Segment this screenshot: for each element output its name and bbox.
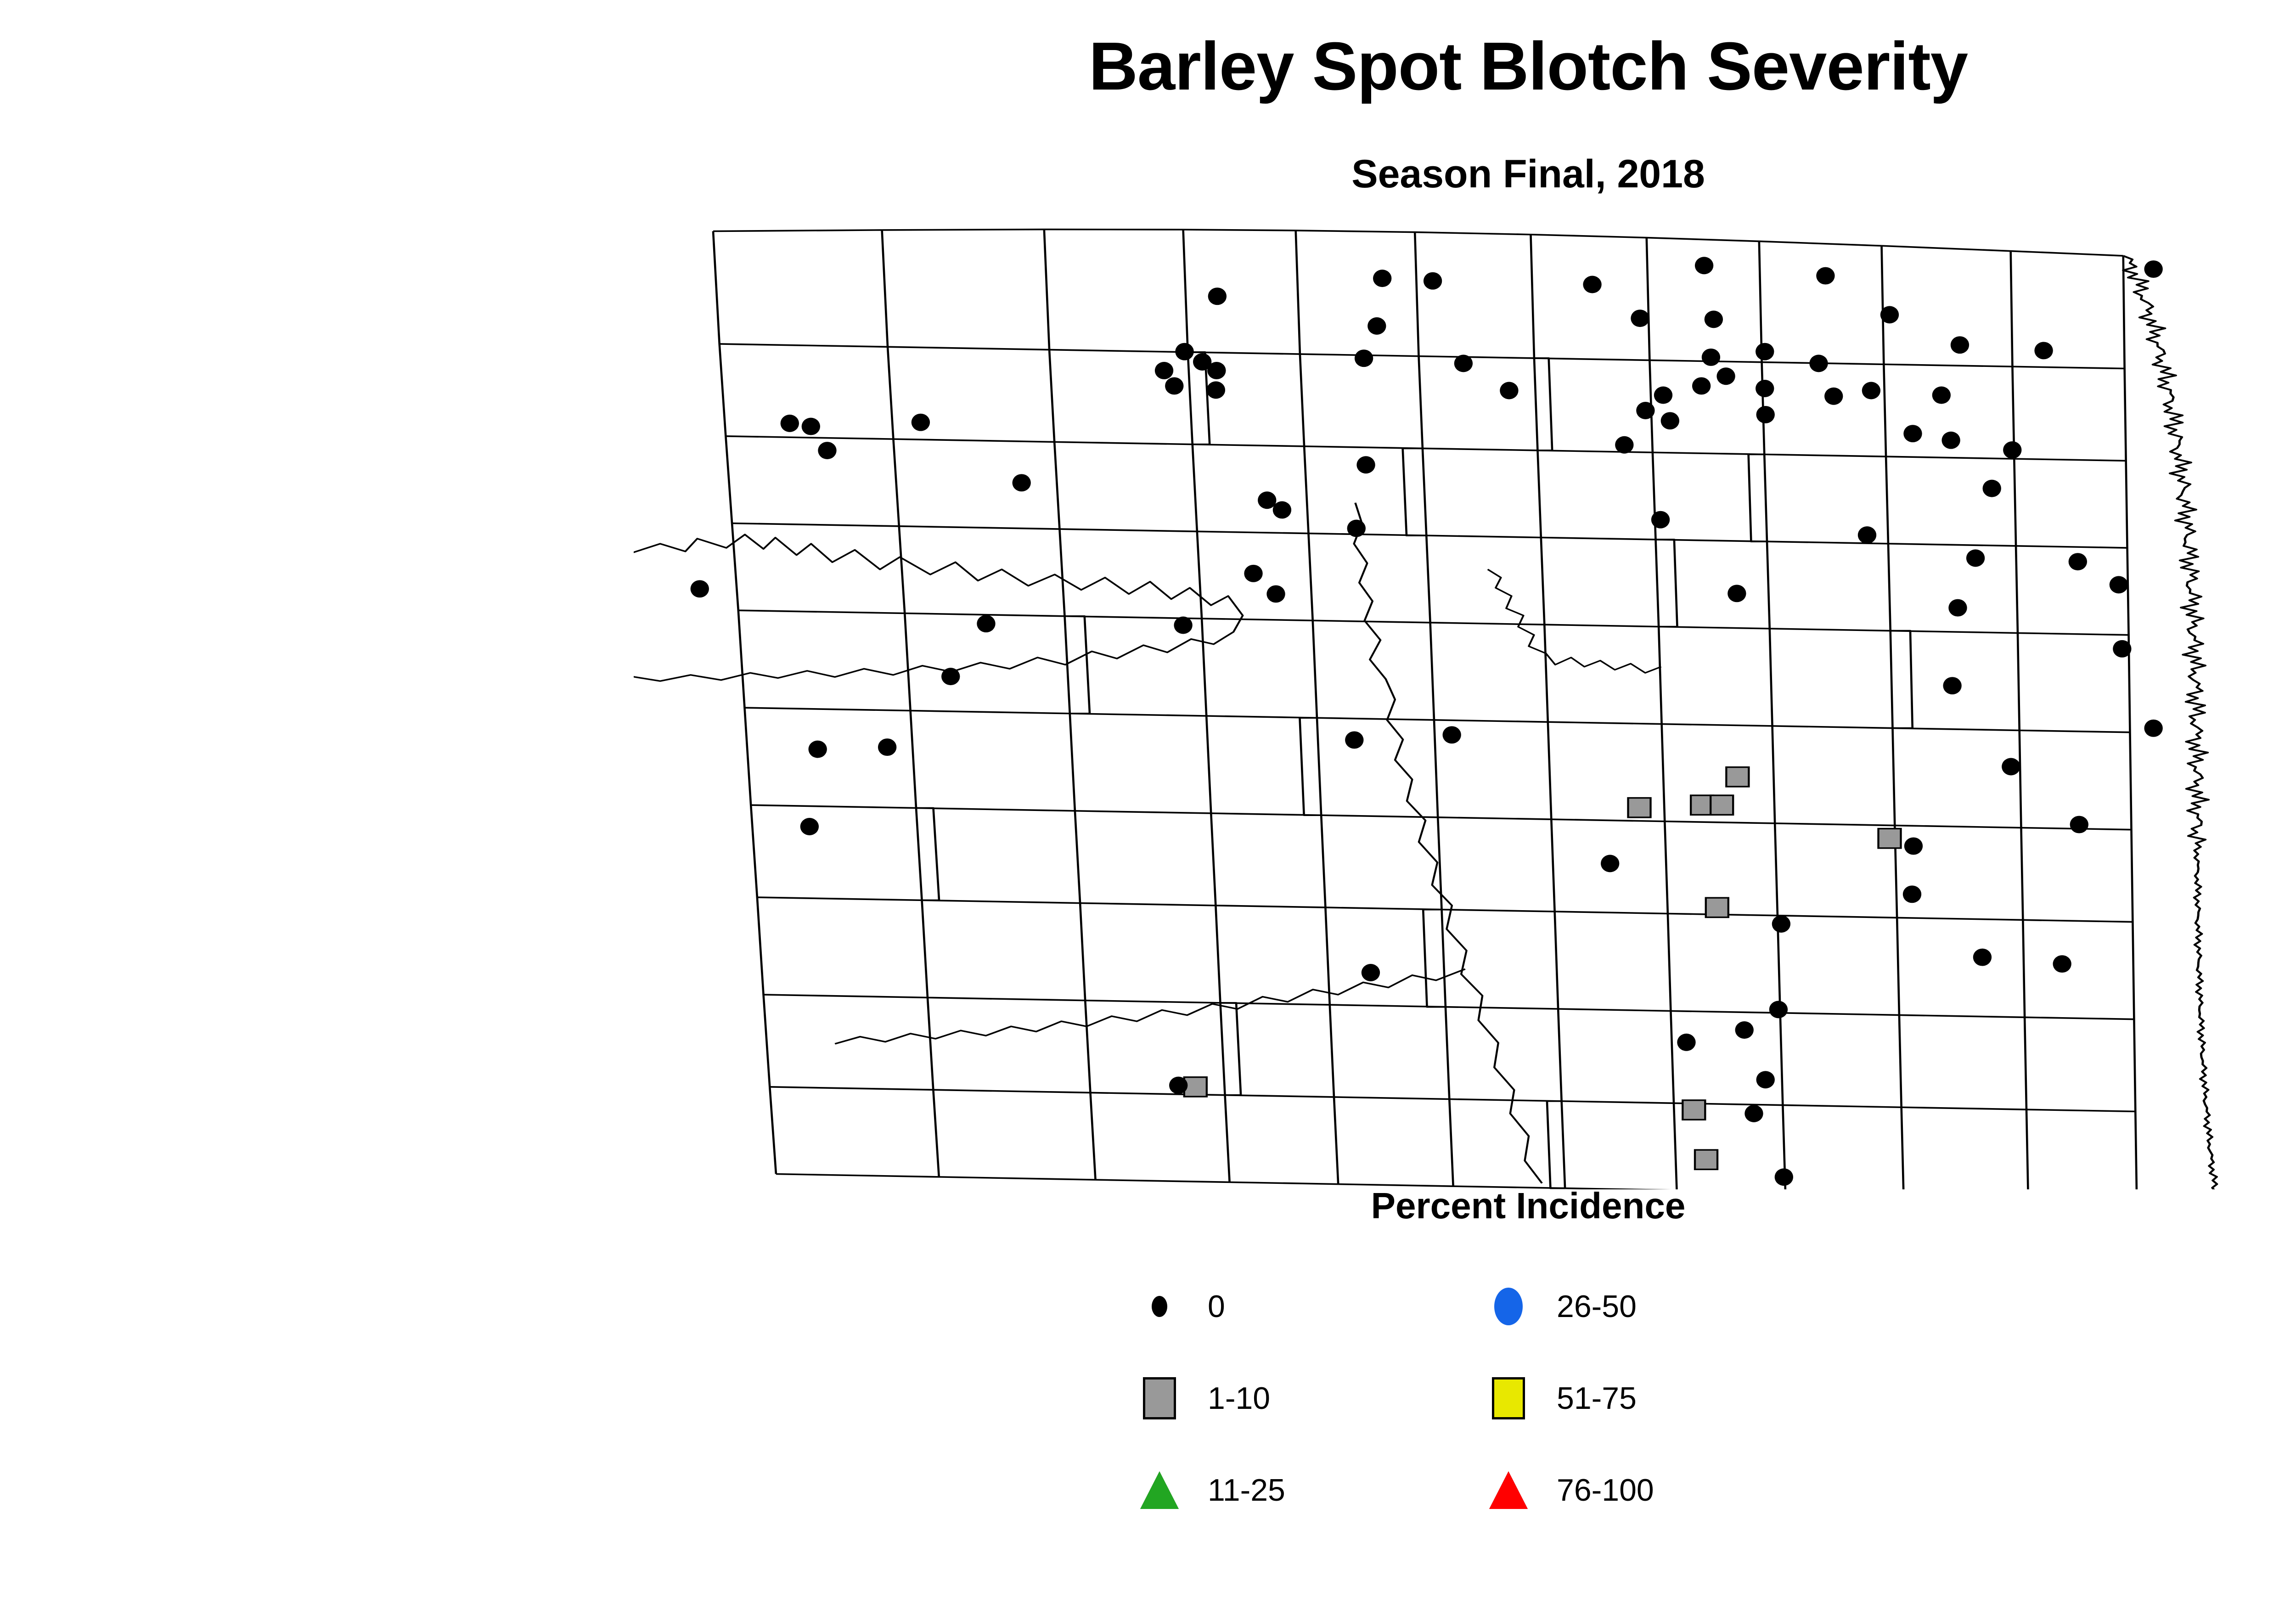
legend-item-label: 51-75 [1557,1380,1637,1416]
survey-point-0 [941,668,960,685]
survey-point-0 [1012,474,1030,491]
survey-point-0 [1677,1034,1695,1051]
survey-point-0 [1756,406,1775,423]
legend-item-1-10[interactable]: 1-10 [1139,1378,1270,1419]
survey-point-0 [781,415,799,432]
survey-point-1-10 [1628,798,1650,817]
survey-point-0 [1858,526,1876,544]
survey-point-0 [1601,855,1619,872]
survey-point-0 [808,741,827,758]
survey-point-0 [1966,549,1985,567]
survey-point-0 [1769,1001,1788,1018]
survey-point-0 [2002,758,2020,776]
page-subtitle: Season Final, 2018 [0,152,2296,197]
survey-point-0 [1903,425,1922,442]
survey-point-0 [1904,837,1923,855]
legend-item-label: 11-25 [1208,1472,1285,1508]
survey-point-0 [1615,436,1633,454]
legend-item-label: 1-10 [1208,1380,1270,1416]
survey-point-0 [1716,367,1735,385]
survey-point-0 [1583,276,1601,293]
legend-square-icon [1139,1378,1180,1419]
survey-point-1-10 [1683,1100,1705,1120]
survey-point-1-10 [1184,1077,1207,1097]
legend-title: Percent Incidence [0,1185,2296,1227]
survey-point-0 [1756,343,1774,360]
survey-point-0 [2110,576,2128,593]
survey-point-0 [1948,599,1967,617]
survey-point-1-10 [1726,767,1749,787]
legend-item-76-100[interactable]: 76-100 [1488,1469,1654,1511]
survey-point-0 [818,442,836,459]
county-boundaries [713,230,2137,1189]
survey-point-0 [1692,377,1711,394]
survey-point-0 [691,580,709,597]
survey-point-0 [1695,257,1713,274]
survey-point-0 [1266,585,1285,602]
survey-point-0 [1244,565,1262,582]
page-title: Barley Spot Blotch Severity [0,28,2296,106]
survey-point-0 [1932,387,1951,404]
legend-item-label: 76-100 [1557,1472,1654,1508]
survey-point-0 [2144,260,2162,278]
survey-point-0 [1258,491,1276,509]
survey-point-0 [1636,402,1654,419]
survey-point-1-10 [1711,795,1733,815]
survey-point-0 [1347,520,1366,537]
legend-square-icon [1488,1378,1529,1419]
survey-point-0 [1728,585,1746,602]
survey-point-0 [1775,1168,1793,1186]
survey-point-0 [1345,731,1363,749]
survey-point-0 [1705,310,1723,328]
survey-point-0 [1772,915,1790,933]
survey-point-0 [800,818,819,835]
legend-circle-icon [1488,1286,1529,1327]
survey-point-0 [1862,382,1880,400]
legend-circle-icon [1139,1286,1180,1327]
survey-point-0 [1756,380,1774,397]
survey-point-0 [1973,949,1992,966]
legend-item-label: 26-50 [1557,1289,1637,1324]
survey-point-0 [1745,1105,1763,1122]
survey-point-0 [1454,355,1473,372]
survey-point-0 [1880,306,1899,323]
survey-point-0 [1631,310,1649,327]
figure-root: Barley Spot Blotch Severity Season Final… [0,0,2296,1610]
survey-point-0 [2144,720,2162,737]
survey-point-0 [1651,511,1670,529]
legend-item-label: 0 [1208,1289,1225,1324]
survey-point-0 [1373,270,1391,287]
survey-point-0 [1809,355,1828,372]
legend-triangle-icon [1488,1469,1529,1511]
legend-item-0[interactable]: 0 [1139,1286,1225,1327]
survey-point-0 [1208,287,1227,305]
survey-point-0 [1941,432,1960,449]
survey-point-0 [1424,272,1442,290]
survey-point-1-10 [1695,1150,1717,1169]
survey-point-0 [2113,640,2131,658]
survey-point-1-10 [1878,828,1901,848]
survey-point-1-10 [1706,898,1728,917]
map-svg [634,216,2223,1189]
survey-point-0 [1356,456,1375,473]
survey-point-0 [1824,388,1843,405]
survey-point-0 [1207,381,1225,399]
survey-point-0 [977,615,995,632]
survey-point-0 [802,418,820,435]
survey-point-0 [2069,553,2087,570]
legend-item-11-25[interactable]: 11-25 [1139,1469,1285,1511]
survey-point-0 [1175,343,1193,360]
survey-point-0 [1355,349,1373,367]
survey-point-0 [1951,336,1969,354]
survey-point-0 [1756,1071,1775,1088]
survey-point-0 [1816,267,1835,285]
north-dakota-county-map [634,216,2223,1189]
survey-point-0 [1362,964,1380,981]
legend-item-51-75[interactable]: 51-75 [1488,1378,1637,1419]
survey-point-0 [1500,382,1518,400]
survey-point-0 [1165,377,1183,394]
survey-point-0 [1903,885,1921,903]
survey-point-0 [2034,342,2053,359]
survey-point-0 [1174,617,1192,634]
survey-point-0 [1661,412,1679,429]
survey-point-0 [1169,1077,1187,1094]
survey-point-0 [1983,480,2001,497]
survey-point-0 [2003,441,2021,459]
survey-point-0 [2053,955,2071,973]
survey-point-0 [1735,1021,1754,1039]
survey-point-0 [1442,726,1461,743]
legend-item-26-50[interactable]: 26-50 [1488,1286,1637,1327]
survey-point-0 [1273,501,1291,518]
survey-point-0 [912,414,930,431]
legend-triangle-icon [1139,1469,1180,1511]
survey-point-0 [1367,317,1386,335]
survey-point-0 [2070,816,2088,833]
survey-point-0 [1654,387,1672,404]
survey-point-0 [1943,677,1961,694]
survey-point-0 [878,738,896,756]
legend: 01-1011-2526-5051-7576-100 [1139,1286,1965,1543]
survey-points [691,257,2223,1186]
river-lines [634,256,2217,1189]
survey-point-0 [1207,362,1226,379]
survey-point-0 [1702,349,1720,366]
survey-point-0 [1155,362,1173,379]
